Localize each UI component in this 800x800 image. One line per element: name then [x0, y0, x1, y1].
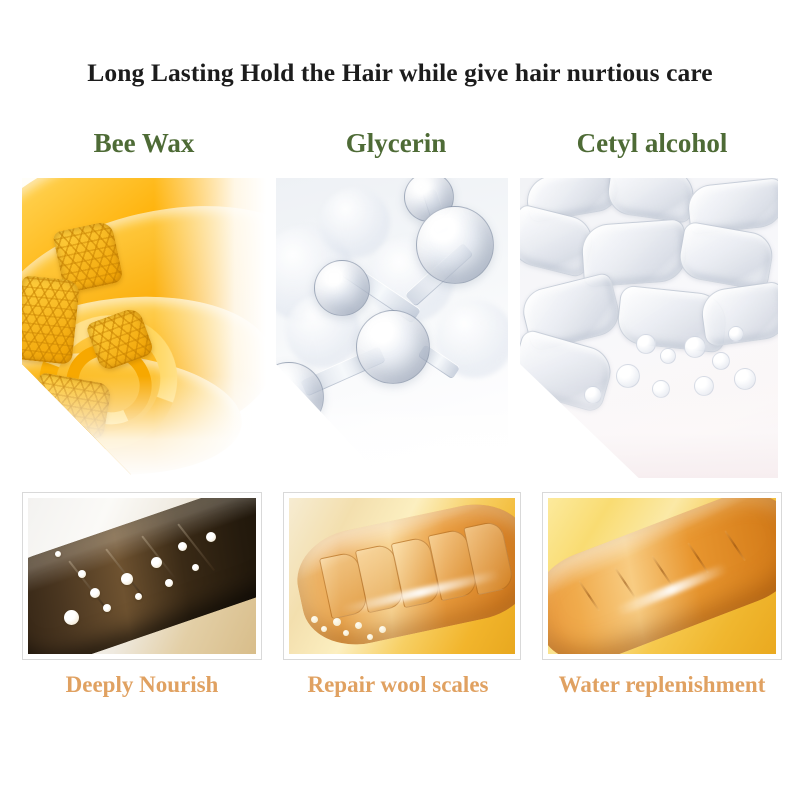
ingredient-label-cetyl-alcohol: Cetyl alcohol	[522, 128, 782, 159]
molecule-atom	[416, 206, 494, 284]
molecule-atom	[356, 310, 430, 384]
infographic-page: Long Lasting Hold the Hair while give ha…	[0, 0, 800, 800]
honey-swirl-illustration	[22, 178, 266, 478]
bubble	[636, 334, 656, 354]
nutrient-droplet	[343, 630, 349, 636]
benefit-caption-water-replenishment: Water replenishment	[536, 672, 788, 698]
crystal-flakes-illustration	[520, 178, 778, 478]
ingredient-label-glycerin: Glycerin	[272, 128, 520, 159]
ingredient-image-glycerin	[276, 178, 508, 478]
nutrient-droplet	[355, 622, 362, 629]
benefit-caption-repair-wool-scales: Repair wool scales	[275, 672, 521, 698]
moisture-droplet	[78, 570, 86, 578]
bubble	[712, 352, 730, 370]
ingredient-image-row	[0, 178, 800, 478]
page-title: Long Lasting Hold the Hair while give ha…	[0, 58, 800, 88]
nutrient-droplet	[379, 626, 386, 633]
ingredient-label-bee-wax: Bee Wax	[18, 128, 270, 159]
smooth-golden-strand-illustration	[548, 498, 776, 654]
nutrient-droplet	[367, 634, 373, 640]
nutrient-droplet	[311, 616, 318, 623]
edge-fade	[22, 376, 266, 478]
nutrient-droplet	[321, 626, 327, 632]
benefit-image-row	[0, 492, 800, 664]
nutrient-droplet	[333, 618, 341, 626]
edge-fade	[276, 400, 508, 478]
edge-fade	[520, 388, 778, 478]
hair-strand	[28, 498, 256, 654]
bubble	[734, 368, 756, 390]
background-atom	[320, 188, 390, 258]
benefit-image-deeply-nourish	[22, 492, 262, 660]
bubble	[616, 364, 640, 388]
bubble	[660, 348, 676, 364]
ingredient-image-cetyl-alcohol	[520, 178, 778, 478]
honeycomb-chunk	[22, 275, 80, 365]
ingredient-image-bee-wax	[22, 178, 266, 478]
benefit-image-water-replenishment	[542, 492, 782, 660]
hair-strand	[548, 498, 776, 654]
moisture-droplet	[192, 564, 199, 571]
bubble	[684, 336, 706, 358]
dark-hair-strand-illustration	[28, 498, 256, 654]
ingredient-label-row: Bee Wax Glycerin Cetyl alcohol	[0, 128, 800, 170]
molecule-atom	[314, 260, 370, 316]
benefit-caption-deeply-nourish: Deeply Nourish	[22, 672, 262, 698]
crystal-flake	[605, 178, 697, 224]
moisture-droplet	[165, 579, 173, 587]
molecule-illustration	[276, 178, 508, 478]
crystal-flake	[676, 220, 776, 291]
benefit-image-repair-wool-scales	[283, 492, 521, 660]
benefit-caption-row: Deeply Nourish Repair wool scales Water …	[0, 672, 800, 712]
golden-cuticle-illustration	[289, 498, 515, 654]
bubble	[728, 326, 744, 342]
